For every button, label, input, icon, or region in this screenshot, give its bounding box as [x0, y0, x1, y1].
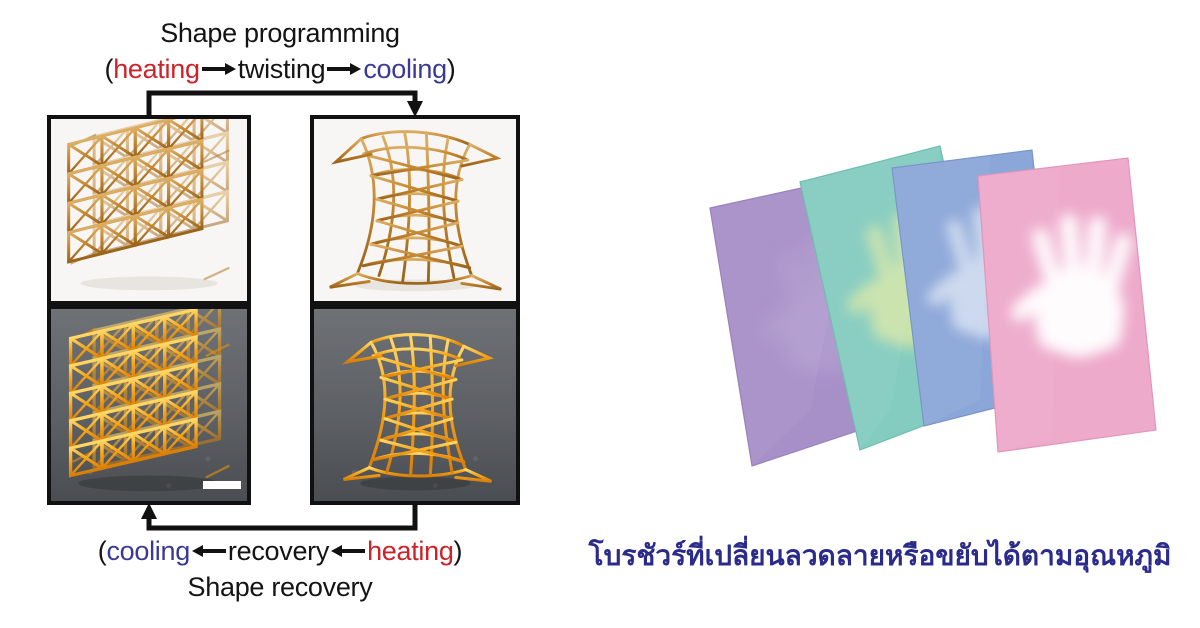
- shape-programming-title: Shape programming: [0, 18, 560, 49]
- close-paren: ): [454, 536, 463, 566]
- arrow-left-icon: [331, 545, 365, 557]
- shape-recovery-sequence: (coolingrecoveryheating): [0, 536, 560, 567]
- close-paren: ): [447, 54, 456, 84]
- thermochromic-sheets-illustration: [560, 110, 1200, 510]
- lattice-twisted-tan-illustration: [314, 119, 516, 301]
- sequence-step-recovery: recovery: [228, 536, 329, 566]
- arrow-right-icon: [327, 63, 361, 75]
- scale-bar: [203, 481, 241, 489]
- sheet-pink: [978, 158, 1156, 452]
- panel-original-programmed: [47, 115, 251, 305]
- lattice-original-orange-illustration: [51, 309, 247, 501]
- thermochromic-sheets-figure: โบรชัวร์ที่เปลี่ยนลวดลายหรือขยับได้ตามอุ…: [560, 0, 1200, 628]
- sequence-step-twisting: twisting: [238, 54, 326, 84]
- sequence-step-heating: heating: [113, 54, 199, 84]
- lattice-original-orange-photo: [51, 309, 247, 501]
- lattice-original-tan-illustration: [51, 119, 247, 301]
- panel-original-recovered: [47, 305, 251, 505]
- panel-twisted-recovered: [310, 305, 520, 505]
- shape-memory-cycle-figure: Shape programming (heatingtwistingcoolin…: [0, 0, 560, 628]
- lattice-twisted-orange-photo: [314, 309, 516, 501]
- panel-twisted-programmed: [310, 115, 520, 305]
- shape-programming-sequence: (heatingtwistingcooling): [0, 54, 560, 85]
- shape-recovery-title: Shape recovery: [0, 572, 560, 603]
- sequence-step-cooling: cooling: [363, 54, 446, 84]
- thermochromic-sheets-photo: [560, 110, 1200, 510]
- lattice-twisted-tan-photo: [314, 119, 516, 301]
- open-paren: (: [105, 54, 114, 84]
- lattice-original-tan-photo: [51, 119, 247, 301]
- sequence-step-heating: heating: [367, 536, 453, 566]
- thai-caption: โบรชัวร์ที่เปลี่ยนลวดลายหรือขยับได้ตามอุ…: [560, 534, 1200, 578]
- arrow-right-icon: [202, 63, 236, 75]
- lattice-twisted-orange-illustration: [314, 309, 516, 501]
- sequence-step-cooling: cooling: [106, 536, 189, 566]
- arrow-left-icon: [192, 545, 226, 557]
